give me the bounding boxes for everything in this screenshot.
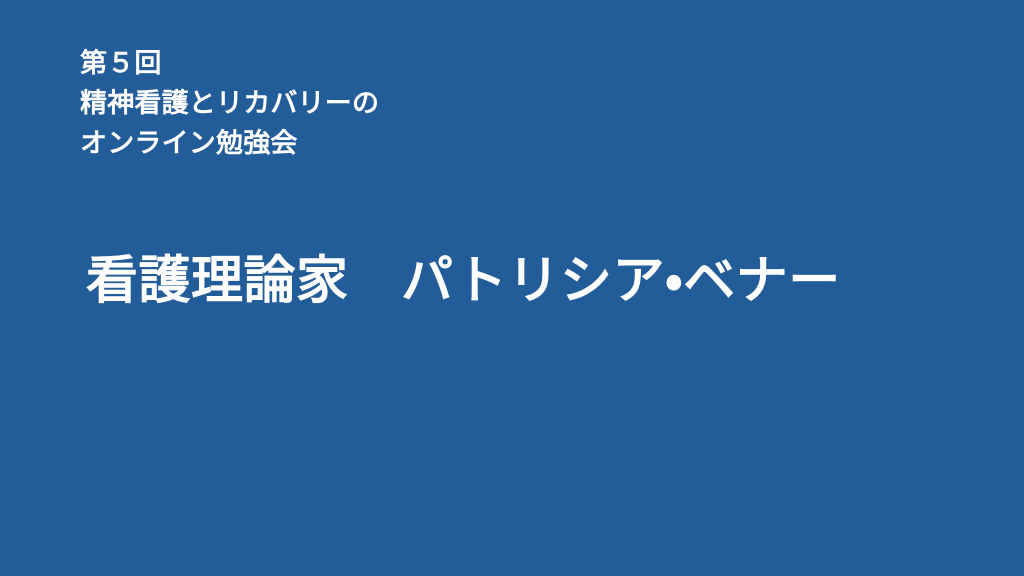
presentation-slide: 第５回 精神看護とリカバリーの オンライン勉強会 看護理論家 パトリシア・ベナー (0, 0, 1024, 576)
slide-header: 第５回 精神看護とリカバリーの オンライン勉強会 (80, 44, 940, 164)
header-line-series-title: 精神看護とリカバリーの (80, 84, 940, 124)
header-line-event-number: 第５回 (80, 44, 940, 84)
slide-content-area (0, 330, 1024, 576)
slide-title-container: 看護理論家 パトリシア・ベナー (86, 246, 986, 316)
page-title: 看護理論家 パトリシア・ベナー (86, 246, 986, 316)
header-line-event-type: オンライン勉強会 (80, 124, 940, 164)
